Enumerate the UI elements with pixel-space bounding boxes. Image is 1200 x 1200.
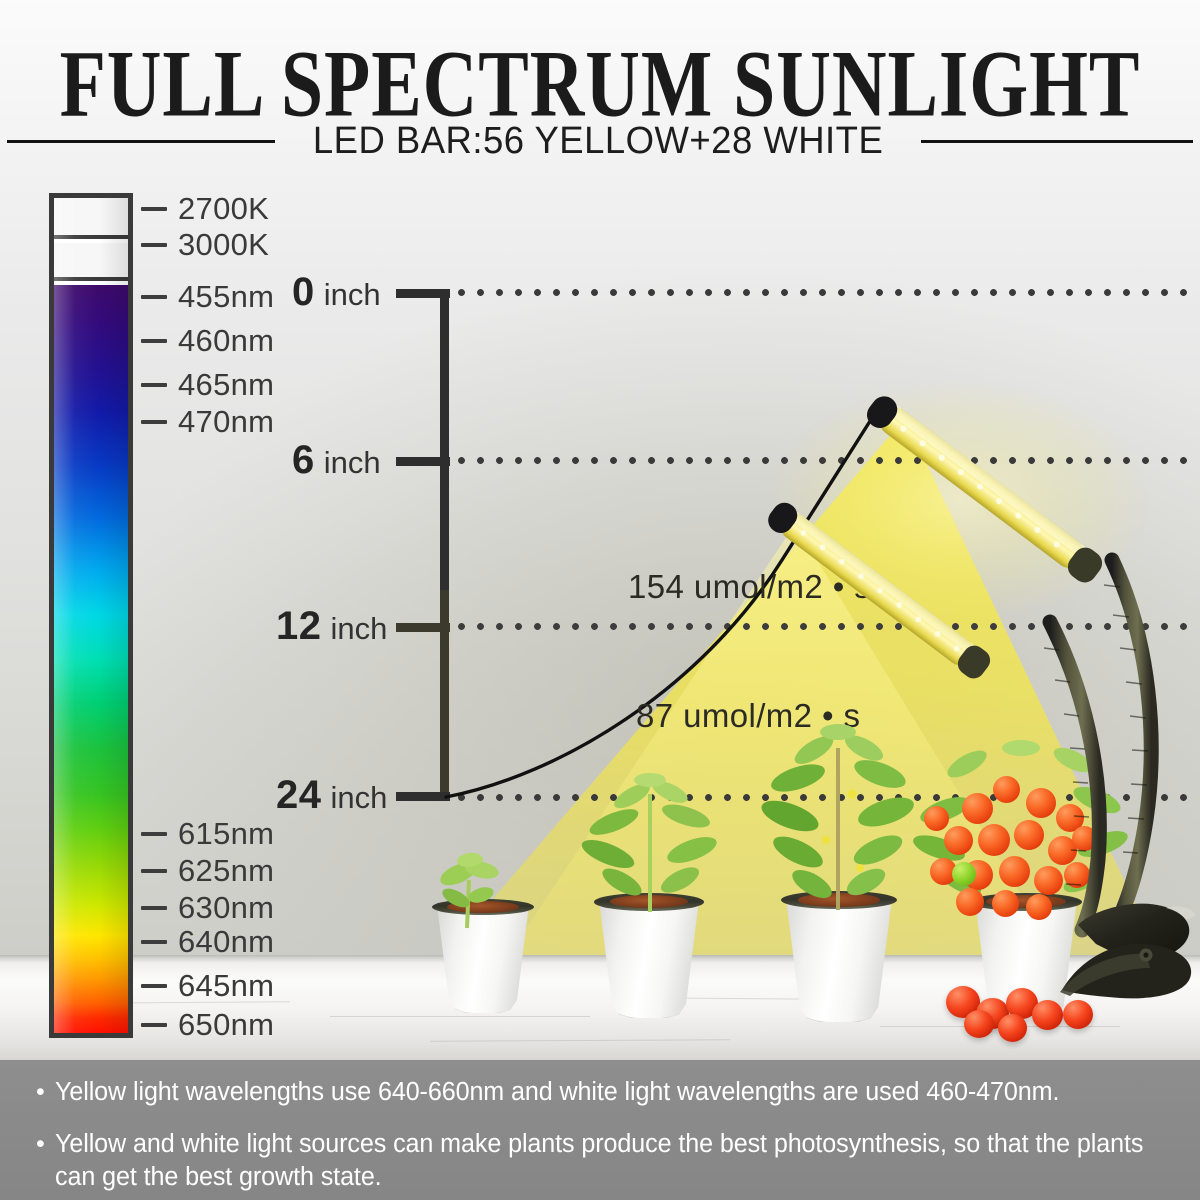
note-item-1: • Yellow light wavelengths use 640-660nm… [36, 1076, 1176, 1109]
bullet-dot-icon: • [36, 1076, 45, 1109]
notes-list: • Yellow light wavelengths use 640-660nm… [36, 1076, 1176, 1194]
infographic-canvas: FULL SPECTRUM SUNLIGHT LED BAR:56 YELLOW… [0, 0, 1200, 1200]
note-text: Yellow and white light sources can make … [55, 1128, 1160, 1194]
note-item-2: • Yellow and white light sources can mak… [36, 1128, 1176, 1194]
led-grow-lamp [0, 0, 1200, 1060]
note-text: Yellow light wavelengths use 640-660nm a… [55, 1076, 1059, 1109]
bullet-dot-icon: • [36, 1128, 45, 1194]
